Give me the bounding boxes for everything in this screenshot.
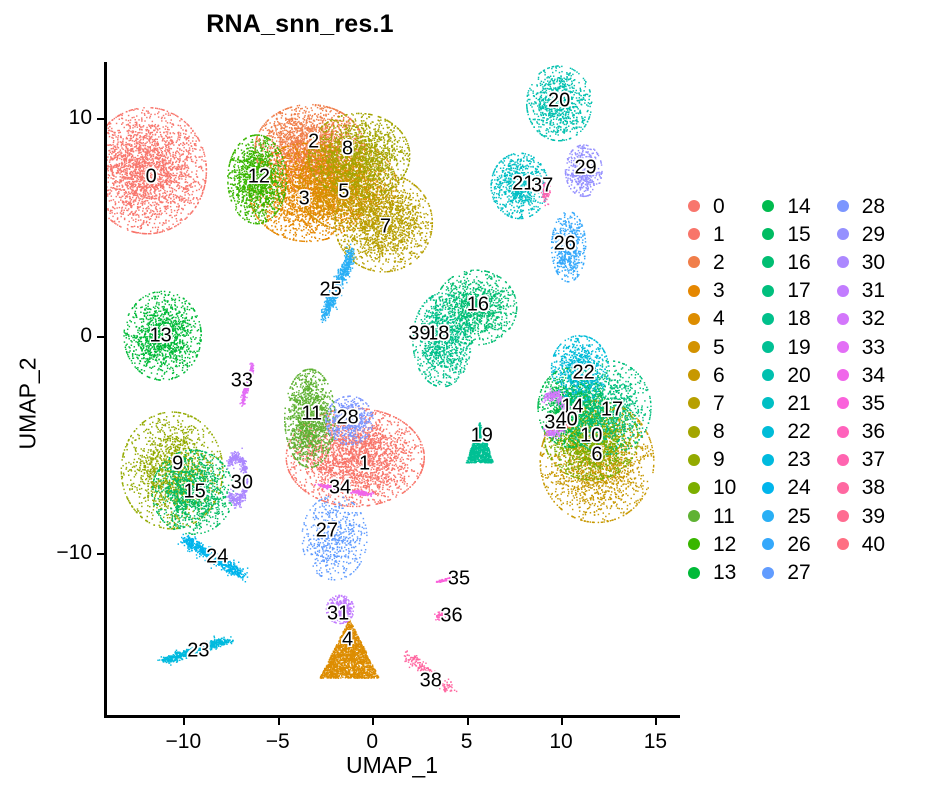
- legend-label: 28: [862, 196, 885, 217]
- legend-label: 9: [713, 449, 725, 470]
- cluster-legend: 0123456789101112131415161718192021222324…: [688, 192, 885, 587]
- legend-label: 27: [787, 562, 810, 583]
- legend-item-15[interactable]: 15: [762, 220, 810, 248]
- x-tick-label: −10: [166, 730, 202, 754]
- legend-item-8[interactable]: 8: [688, 418, 736, 446]
- legend-label: 12: [713, 534, 736, 555]
- x-tick-label: 15: [644, 730, 667, 754]
- legend-dot-icon: [688, 567, 700, 579]
- legend-dot-icon: [688, 200, 700, 212]
- legend-dot-icon: [688, 510, 700, 522]
- legend-item-6[interactable]: 6: [688, 361, 736, 389]
- legend-label: 37: [862, 449, 885, 470]
- legend-item-3[interactable]: 3: [688, 277, 736, 305]
- legend-dot-icon: [837, 482, 849, 494]
- x-axis-title: UMAP_1: [104, 752, 680, 779]
- legend-item-13[interactable]: 13: [688, 558, 736, 586]
- legend-label: 8: [713, 421, 725, 442]
- legend-dot-icon: [762, 397, 774, 409]
- legend-item-37[interactable]: 37: [837, 446, 885, 474]
- legend-label: 22: [787, 421, 810, 442]
- legend-dot-icon: [762, 228, 774, 240]
- legend-label: 20: [787, 365, 810, 386]
- legend-dot-icon: [837, 510, 849, 522]
- legend-label: 35: [862, 393, 885, 414]
- legend-item-21[interactable]: 21: [762, 389, 810, 417]
- legend-dot-icon: [688, 482, 700, 494]
- y-tick-mark: [97, 336, 104, 338]
- legend-label: 34: [862, 365, 885, 386]
- legend-item-31[interactable]: 31: [837, 277, 885, 305]
- y-axis-title: UMAP_2: [15, 314, 42, 494]
- legend-dot-icon: [688, 426, 700, 438]
- legend-label: 36: [862, 421, 885, 442]
- legend-dot-icon: [762, 369, 774, 381]
- legend-label: 4: [713, 308, 725, 329]
- legend-label: 30: [862, 252, 885, 273]
- legend-dot-icon: [762, 200, 774, 212]
- legend-label: 19: [787, 337, 810, 358]
- legend-dot-icon: [837, 228, 849, 240]
- legend-dot-icon: [688, 369, 700, 381]
- legend-item-14[interactable]: 14: [762, 192, 810, 220]
- legend-dot-icon: [837, 397, 849, 409]
- legend-label: 2: [713, 252, 725, 273]
- legend-label: 40: [862, 534, 885, 555]
- page-title: RNA_snn_res.1: [0, 10, 600, 39]
- legend-dot-icon: [837, 313, 849, 325]
- legend-item-7[interactable]: 7: [688, 389, 736, 417]
- legend-dot-icon: [762, 510, 774, 522]
- legend-dot-icon: [688, 397, 700, 409]
- legend-dot-icon: [762, 285, 774, 297]
- legend-item-1[interactable]: 1: [688, 220, 736, 248]
- legend-label: 3: [713, 280, 725, 301]
- legend-dot-icon: [762, 567, 774, 579]
- x-tick-label: 5: [461, 730, 473, 754]
- legend-label: 25: [787, 506, 810, 527]
- legend-item-12[interactable]: 12: [688, 530, 736, 558]
- legend-column-2: 1415161718192021222324252627: [762, 192, 810, 587]
- legend-label: 5: [713, 337, 725, 358]
- legend-item-35[interactable]: 35: [837, 389, 885, 417]
- legend-item-20[interactable]: 20: [762, 361, 810, 389]
- legend-label: 24: [787, 477, 810, 498]
- y-axis-line: [104, 62, 107, 718]
- legend-item-26[interactable]: 26: [762, 530, 810, 558]
- legend-item-4[interactable]: 4: [688, 305, 736, 333]
- legend-item-34[interactable]: 34: [837, 361, 885, 389]
- x-tick-label: 10: [549, 730, 572, 754]
- legend-column-3: 28293031323334353637383940: [837, 192, 885, 587]
- legend-dot-icon: [837, 538, 849, 550]
- legend-label: 18: [787, 308, 810, 329]
- x-tick-label: −5: [266, 730, 290, 754]
- y-tick-label: 10: [69, 106, 92, 130]
- x-axis-line: [104, 715, 680, 718]
- legend-label: 39: [862, 506, 885, 527]
- y-tick-mark: [97, 118, 104, 120]
- legend-item-9[interactable]: 9: [688, 446, 736, 474]
- legend-item-39[interactable]: 39: [837, 502, 885, 530]
- legend-item-38[interactable]: 38: [837, 474, 885, 502]
- legend-dot-icon: [837, 426, 849, 438]
- legend-label: 6: [713, 365, 725, 386]
- legend-item-24[interactable]: 24: [762, 474, 810, 502]
- y-tick-mark: [97, 553, 104, 555]
- legend-dot-icon: [762, 538, 774, 550]
- scatter-canvas: [104, 62, 680, 718]
- legend-label: 15: [787, 224, 810, 245]
- legend-label: 1: [713, 224, 725, 245]
- x-tick-mark: [183, 718, 185, 725]
- legend-label: 11: [713, 506, 735, 527]
- legend-dot-icon: [762, 454, 774, 466]
- x-tick-mark: [278, 718, 280, 725]
- legend-label: 13: [713, 562, 736, 583]
- legend-item-27[interactable]: 27: [762, 558, 810, 586]
- legend-label: 21: [787, 393, 810, 414]
- legend-item-32[interactable]: 32: [837, 305, 885, 333]
- legend-item-0[interactable]: 0: [688, 192, 736, 220]
- legend-dot-icon: [837, 454, 849, 466]
- legend-item-19[interactable]: 19: [762, 333, 810, 361]
- umap-plot-root: RNA_snn_res.1 100−10 −10−5051015 0123456…: [0, 0, 925, 788]
- x-tick-mark: [467, 718, 469, 725]
- legend-item-30[interactable]: 30: [837, 248, 885, 276]
- legend-label: 33: [862, 337, 885, 358]
- legend-item-29[interactable]: 29: [837, 220, 885, 248]
- legend-item-25[interactable]: 25: [762, 502, 810, 530]
- legend-label: 29: [862, 224, 885, 245]
- legend-label: 31: [862, 280, 885, 301]
- legend-dot-icon: [762, 256, 774, 268]
- legend-label: 17: [787, 280, 810, 301]
- legend-dot-icon: [837, 369, 849, 381]
- legend-label: 23: [787, 449, 810, 470]
- legend-dot-icon: [762, 482, 774, 494]
- legend-item-18[interactable]: 18: [762, 305, 810, 333]
- legend-item-33[interactable]: 33: [837, 333, 885, 361]
- x-tick-mark: [655, 718, 657, 725]
- legend-dot-icon: [837, 256, 849, 268]
- legend-item-5[interactable]: 5: [688, 333, 736, 361]
- legend-item-22[interactable]: 22: [762, 418, 810, 446]
- legend-dot-icon: [762, 341, 774, 353]
- legend-item-40[interactable]: 40: [837, 530, 885, 558]
- legend-dot-icon: [688, 454, 700, 466]
- x-tick-mark: [561, 718, 563, 725]
- legend-dot-icon: [837, 200, 849, 212]
- legend-label: 14: [787, 196, 810, 217]
- legend-dot-icon: [837, 285, 849, 297]
- legend-item-36[interactable]: 36: [837, 418, 885, 446]
- y-tick-label: −10: [56, 541, 92, 565]
- legend-label: 32: [862, 308, 885, 329]
- legend-label: 7: [713, 393, 725, 414]
- legend-item-11[interactable]: 11: [688, 502, 736, 530]
- legend-item-28[interactable]: 28: [837, 192, 885, 220]
- x-tick-label: 0: [366, 730, 378, 754]
- legend-dot-icon: [688, 538, 700, 550]
- legend-label: 26: [787, 534, 810, 555]
- legend-label: 38: [862, 477, 885, 498]
- legend-dot-icon: [688, 341, 700, 353]
- plot-panel: 100−10 −10−5051015 012345678910111213141…: [104, 62, 680, 718]
- legend-item-10[interactable]: 10: [688, 474, 736, 502]
- legend-label: 0: [713, 196, 725, 217]
- legend-dot-icon: [688, 313, 700, 325]
- legend-column-1: 012345678910111213: [688, 192, 736, 587]
- legend-dot-icon: [688, 285, 700, 297]
- legend-item-23[interactable]: 23: [762, 446, 810, 474]
- legend-label: 16: [787, 252, 810, 273]
- legend-dot-icon: [688, 256, 700, 268]
- legend-item-2[interactable]: 2: [688, 248, 736, 276]
- y-tick-label: 0: [80, 324, 92, 348]
- legend-dot-icon: [762, 426, 774, 438]
- legend-item-17[interactable]: 17: [762, 277, 810, 305]
- legend-label: 10: [713, 477, 736, 498]
- legend-dot-icon: [837, 341, 849, 353]
- legend-dot-icon: [688, 228, 700, 240]
- legend-dot-icon: [762, 313, 774, 325]
- x-tick-mark: [372, 718, 374, 725]
- legend-item-16[interactable]: 16: [762, 248, 810, 276]
